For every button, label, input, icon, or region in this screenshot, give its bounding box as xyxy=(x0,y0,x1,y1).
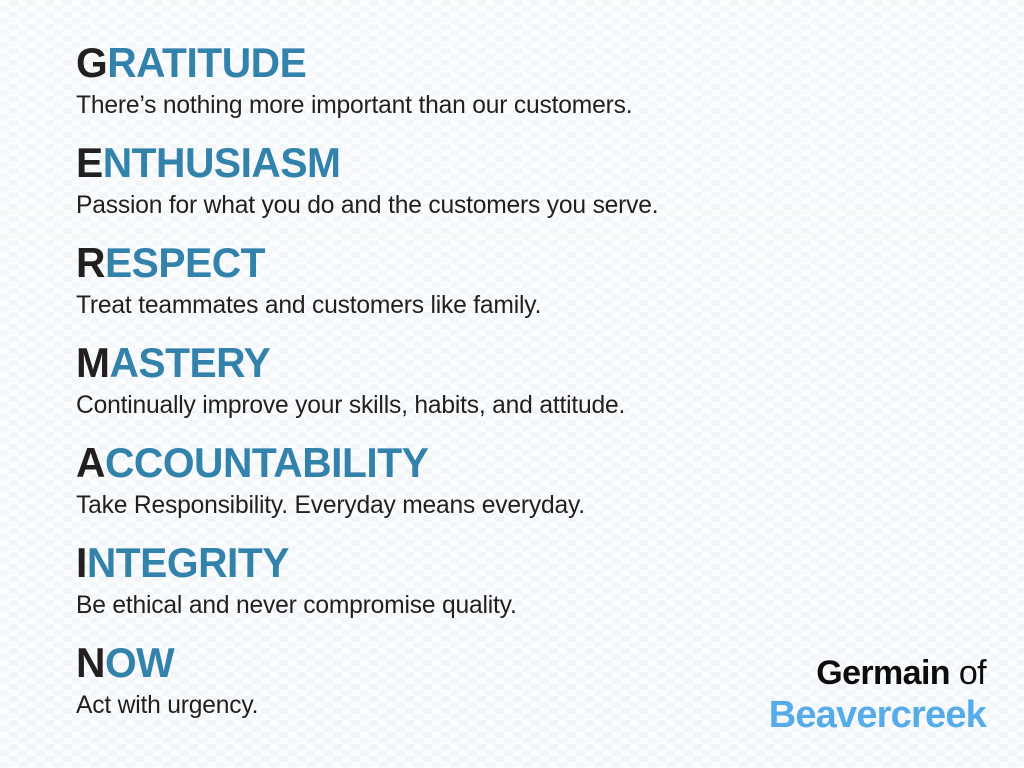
value-initial-letter: A xyxy=(76,439,105,486)
value-heading-rest: CCOUNTABILITY xyxy=(105,439,428,486)
value-description-gratitude: There’s nothing more important than our … xyxy=(76,90,632,120)
value-description-accountability: Take Responsibility. Everyday means ever… xyxy=(76,490,585,520)
value-description-enthusiasm: Passion for what you do and the customer… xyxy=(76,190,658,220)
value-description-now: Act with urgency. xyxy=(76,690,258,720)
value-heading-rest: ASTERY xyxy=(109,339,270,386)
value-heading-rest: OW xyxy=(105,639,174,686)
value-heading-now: NOW xyxy=(76,640,256,686)
poster-content: GRATITUDE There’s nothing more important… xyxy=(0,0,1024,768)
value-heading-rest: ESPECT xyxy=(105,239,265,286)
logo-top-line: Germain of xyxy=(769,654,986,692)
value-initial-letter: E xyxy=(76,139,103,186)
value-heading-enthusiasm: ENTHUSIASM xyxy=(76,140,650,186)
value-description-integrity: Be ethical and never compromise quality. xyxy=(76,590,517,620)
value-description-respect: Treat teammates and customers like famil… xyxy=(76,290,541,320)
value-heading-rest: NTEGRITY xyxy=(87,539,289,586)
value-heading-rest: NTHUSIASM xyxy=(103,139,341,186)
value-heading-gratitude: GRATITUDE xyxy=(76,40,624,86)
value-heading-rest: RATITUDE xyxy=(107,39,306,86)
value-initial-letter: G xyxy=(76,39,107,86)
value-initial-letter: I xyxy=(76,539,87,586)
value-heading-mastery: MASTERY xyxy=(76,340,617,386)
value-block-mastery: MASTERY Continually improve your skills,… xyxy=(76,340,634,420)
value-heading-respect: RESPECT xyxy=(76,240,534,286)
value-block-now: NOW Act with urgency. xyxy=(76,640,261,720)
value-heading-integrity: INTEGRITY xyxy=(76,540,510,586)
dealership-logo: Germain of Beavercreek xyxy=(769,654,986,736)
value-initial-letter: R xyxy=(76,239,105,286)
value-block-enthusiasm: ENTHUSIASM Passion for what you do and t… xyxy=(76,140,667,220)
value-block-accountability: ACCOUNTABILITY Take Responsibility. Ever… xyxy=(76,440,593,520)
value-heading-accountability: ACCOUNTABILITY xyxy=(76,440,577,486)
logo-location-name: Beavercreek xyxy=(769,694,986,736)
logo-connector-word: of xyxy=(950,654,986,692)
value-block-gratitude: GRATITUDE There’s nothing more important… xyxy=(76,40,641,120)
value-block-integrity: INTEGRITY Be ethical and never compromis… xyxy=(76,540,523,620)
value-description-mastery: Continually improve your skills, habits,… xyxy=(76,390,625,420)
value-initial-letter: M xyxy=(76,339,109,386)
value-block-respect: RESPECT Treat teammates and customers li… xyxy=(76,240,548,320)
value-initial-letter: N xyxy=(76,639,105,686)
logo-brand-name: Germain xyxy=(816,654,950,692)
